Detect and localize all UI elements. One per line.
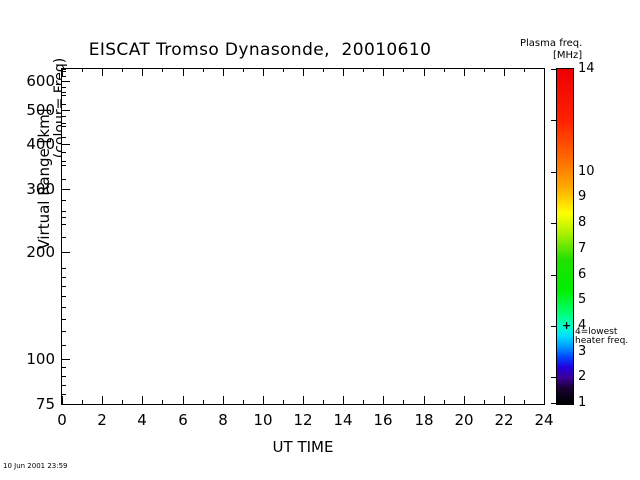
x-axis-minor-tick <box>203 68 204 72</box>
x-axis-major-tick <box>102 68 103 76</box>
x-axis-major-tick <box>223 396 224 404</box>
x-axis-minor-tick <box>283 68 284 72</box>
x-axis-major-tick <box>303 68 304 76</box>
x-axis-tick-label: 4 <box>122 411 162 429</box>
x-axis-minor-tick <box>444 68 445 72</box>
x-axis-tick-label: 22 <box>484 411 524 429</box>
footer-timestamp: 10 Jun 2001 23:59 <box>3 462 68 470</box>
x-axis-major-tick <box>383 396 384 404</box>
y-axis-major-tick <box>61 144 70 145</box>
colorbar-tick <box>551 403 556 404</box>
x-axis-major-tick <box>424 396 425 404</box>
colorbar-tick-label: 5 <box>578 292 586 307</box>
x-axis-major-tick <box>263 68 264 76</box>
x-axis-major-tick <box>343 68 344 76</box>
colorbar-tick <box>551 377 556 378</box>
x-axis-tick-label: 2 <box>82 411 122 429</box>
colorbar-tick-label: 6 <box>578 267 586 282</box>
x-axis-tick-label: 12 <box>283 411 323 429</box>
y-axis-minor-tick <box>61 268 66 269</box>
x-axis-minor-tick <box>484 400 485 404</box>
x-axis-major-tick <box>464 396 465 404</box>
y-axis-major-tick <box>61 110 70 111</box>
x-axis-minor-tick <box>82 400 83 404</box>
colorbar-tick-label: 3 <box>578 344 586 359</box>
colorbar-title-line1: Plasma freq. <box>520 38 582 49</box>
y-axis-tick-label: 200 <box>11 243 55 261</box>
colorbar-tick-label: 7 <box>578 241 586 256</box>
y-axis-minor-tick <box>61 179 66 180</box>
x-axis-major-tick <box>544 396 545 404</box>
colorbar-tick-label: 8 <box>578 215 586 230</box>
x-axis-minor-tick <box>82 68 83 72</box>
x-axis-major-tick <box>62 68 63 76</box>
y-axis-minor-tick <box>61 277 66 278</box>
x-axis-minor-tick <box>403 68 404 72</box>
y-axis-minor-tick <box>61 116 66 117</box>
y-axis-minor-tick <box>61 296 66 297</box>
x-axis-title: UT TIME <box>61 438 545 456</box>
ionogram-page: EISCAT Tromso Dynasonde, 20010610 Plasma… <box>0 0 640 480</box>
colorbar-tick <box>551 172 556 173</box>
colorbar-tick <box>551 120 556 121</box>
colorbar-tick <box>551 69 556 70</box>
x-axis-tick-label: 18 <box>404 411 444 429</box>
x-axis-tick-label: 0 <box>42 411 82 429</box>
colorbar-tick-label: 2 <box>578 369 586 384</box>
y-axis-tick-label: 400 <box>11 135 55 153</box>
y-axis-minor-tick <box>61 307 66 308</box>
x-axis-major-tick <box>263 396 264 404</box>
y-axis-major-tick <box>61 359 70 360</box>
colorbar-tick-label: 10 <box>578 164 595 179</box>
y-axis-minor-tick <box>61 137 66 138</box>
colorbar-title-line2: [MHz] <box>553 50 582 61</box>
x-axis-minor-tick <box>444 400 445 404</box>
x-axis-minor-tick <box>283 400 284 404</box>
x-axis-tick-label: 24 <box>524 411 564 429</box>
y-axis-minor-tick <box>61 345 66 346</box>
x-axis-minor-tick <box>323 400 324 404</box>
colorbar-heater-marker-icon: + <box>562 320 571 331</box>
colorbar-tick-label: 9 <box>578 189 586 204</box>
x-axis-major-tick <box>183 68 184 76</box>
y-axis-minor-tick <box>61 376 66 377</box>
x-axis-minor-tick <box>323 68 324 72</box>
y-axis-tick-label: 600 <box>11 72 55 90</box>
y-axis-minor-tick <box>61 152 66 153</box>
x-axis-tick-label: 16 <box>363 411 403 429</box>
x-axis-minor-tick <box>243 68 244 72</box>
x-axis-tick-label: 10 <box>243 411 283 429</box>
y-axis-major-tick <box>61 404 70 405</box>
y-axis-minor-tick <box>61 92 66 93</box>
y-axis-minor-tick <box>61 200 66 201</box>
x-axis-tick-label: 20 <box>444 411 484 429</box>
x-axis-minor-tick <box>524 68 525 72</box>
x-axis-tick-label: 14 <box>323 411 363 429</box>
y-axis-minor-tick <box>61 161 66 162</box>
x-axis-tick-label: 8 <box>203 411 243 429</box>
y-axis-minor-tick <box>61 126 66 127</box>
x-axis-tick-label: 6 <box>163 411 203 429</box>
x-axis-major-tick <box>504 68 505 76</box>
y-axis-minor-tick <box>61 95 66 96</box>
y-axis-major-tick <box>61 189 70 190</box>
y-axis-tick-label: 300 <box>11 180 55 198</box>
x-axis-major-tick <box>142 68 143 76</box>
x-axis-minor-tick <box>122 68 123 72</box>
colorbar-tick-label: 14 <box>578 61 595 76</box>
y-axis-minor-tick <box>61 237 66 238</box>
y-axis-minor-tick <box>61 319 66 320</box>
page-title: EISCAT Tromso Dynasonde, 20010610 <box>0 40 520 60</box>
y-axis-minor-tick <box>61 286 66 287</box>
colorbar-tick <box>551 223 556 224</box>
x-axis-major-tick <box>142 396 143 404</box>
y-axis-minor-tick <box>61 123 66 124</box>
y-axis-minor-tick <box>61 104 66 105</box>
colorbar-tick <box>551 275 556 276</box>
x-axis-major-tick <box>504 396 505 404</box>
colorbar-frame <box>556 68 574 405</box>
x-axis-minor-tick <box>403 400 404 404</box>
x-axis-minor-tick <box>484 68 485 72</box>
x-axis-minor-tick <box>243 400 244 404</box>
y-axis-minor-tick <box>61 87 66 88</box>
y-axis-minor-tick <box>61 394 66 395</box>
x-axis-major-tick <box>62 396 63 404</box>
y-axis-minor-tick <box>61 217 66 218</box>
y-axis-minor-tick <box>61 211 66 212</box>
y-axis-minor-tick <box>61 165 66 166</box>
x-axis-major-tick <box>383 68 384 76</box>
x-axis-major-tick <box>464 68 465 76</box>
x-axis-minor-tick <box>162 400 163 404</box>
x-axis-minor-tick <box>363 68 364 72</box>
y-axis-major-tick <box>61 81 70 82</box>
x-axis-major-tick <box>223 68 224 76</box>
y-axis-minor-tick <box>61 331 66 332</box>
x-axis-major-tick <box>343 396 344 404</box>
y-axis-minor-tick <box>61 367 66 368</box>
y-axis-minor-tick <box>61 76 66 77</box>
x-axis-minor-tick <box>203 400 204 404</box>
plot-frame <box>61 68 545 405</box>
y-axis-minor-tick <box>61 224 66 225</box>
x-axis-major-tick <box>544 68 545 76</box>
colorbar-tick <box>551 326 556 327</box>
x-axis-minor-tick <box>524 400 525 404</box>
x-axis-major-tick <box>183 396 184 404</box>
y-axis-tick-label: 500 <box>11 101 55 119</box>
x-axis-major-tick <box>303 396 304 404</box>
x-axis-major-tick <box>102 396 103 404</box>
x-axis-minor-tick <box>122 400 123 404</box>
colorbar-tick-label: 1 <box>578 395 586 410</box>
colorbar-note-line2: heater freq. <box>575 336 628 346</box>
x-axis-minor-tick <box>162 68 163 72</box>
y-axis-major-tick <box>61 252 70 253</box>
x-axis-major-tick <box>424 68 425 76</box>
y-axis-minor-tick <box>61 385 66 386</box>
x-axis-minor-tick <box>363 400 364 404</box>
y-axis-tick-label: 100 <box>11 350 55 368</box>
